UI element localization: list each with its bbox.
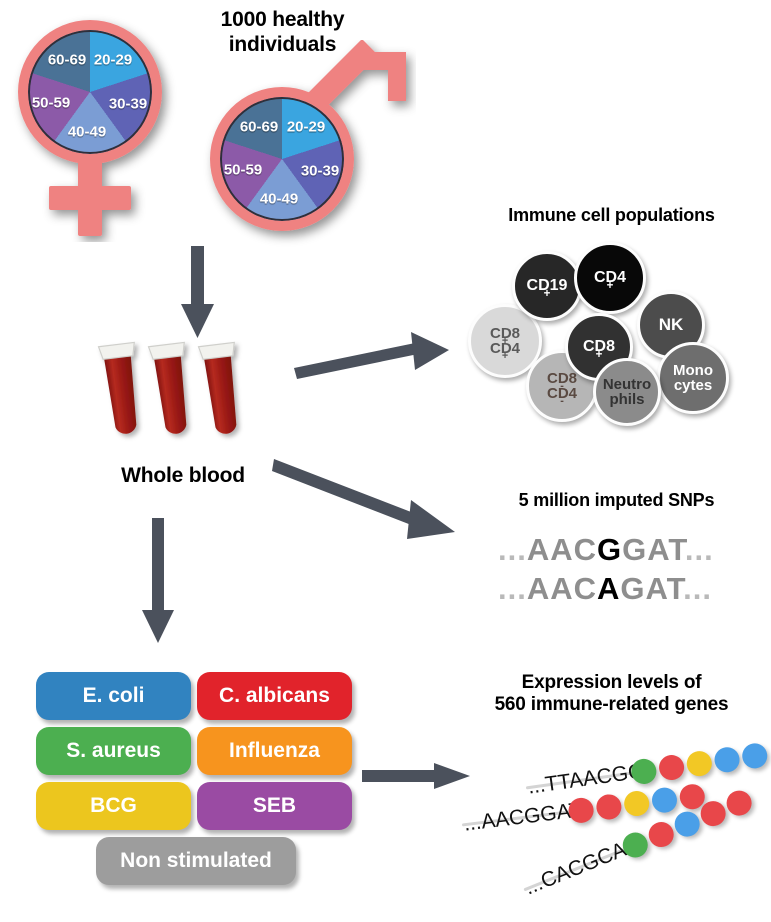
snp-title: 5 million imputed SNPs	[462, 490, 771, 511]
expression-title: Expression levels of 560 immune-related …	[452, 672, 771, 717]
expression-section: Expression levels of 560 immune-related …	[452, 672, 771, 920]
cell-monocytes: Mono cytes	[657, 342, 729, 414]
snp-section: 5 million imputed SNPs ...AACGGAT... ...…	[462, 490, 771, 615]
dna-bead	[723, 787, 756, 820]
stimulus-c-albicans[interactable]: C. albicans	[197, 672, 352, 720]
snp-allele-1: ...AACGGAT...	[498, 532, 714, 568]
cell-cd4pos: CD4+	[574, 242, 646, 314]
male-gender-symbol: 20-29 30-39 40-49 50-59 60-69	[196, 40, 416, 250]
male-pie-label-30-39: 30-39	[301, 163, 339, 180]
expression-title-line2: 560 immune-related genes	[452, 694, 771, 716]
female-pie-label-60-69: 60-69	[48, 52, 86, 69]
stimulus-label: S. aureus	[66, 739, 161, 763]
cohort-section: 1000 healthy individuals 20-29 30-39 40-…	[0, 0, 430, 260]
stimulus-bcg[interactable]: BCG	[36, 782, 191, 830]
stimulus-seb[interactable]: SEB	[197, 782, 352, 830]
dna-bead	[657, 753, 685, 781]
cell-label-line2: CD4+	[490, 341, 520, 356]
stimulus-label: Non stimulated	[120, 849, 272, 873]
cell-label-line1: Neutro	[603, 377, 651, 392]
dna-bead	[651, 786, 679, 814]
snp-allele2-suffix-dots: ...	[683, 571, 712, 606]
blood-tube	[149, 342, 196, 435]
cell-label: CD8+	[583, 339, 615, 355]
stimulus-non-stimulated[interactable]: Non stimulated	[96, 837, 296, 885]
female-pie-label-50-59: 50-59	[32, 95, 70, 112]
snp-allele2-variant: A	[597, 571, 620, 606]
cell-label-line1: CD8+	[490, 326, 520, 341]
cell-label-line2: phils	[609, 392, 644, 407]
snp-allele1-prefix-dots: ...	[498, 532, 527, 567]
dna-bead	[741, 742, 769, 770]
cohort-title-line1: 1000 healthy	[170, 8, 395, 33]
male-pie-label-20-29: 20-29	[287, 119, 325, 136]
female-gender-symbol: 20-29 30-39 40-49 50-59 60-69	[8, 12, 188, 242]
snp-allele-2: ...AACAGAT...	[498, 571, 712, 607]
stimulus-s-aureus[interactable]: S. aureus	[36, 727, 191, 775]
female-pie-label-40-49: 40-49	[68, 124, 106, 141]
stimulus-e-coli[interactable]: E. coli	[36, 672, 191, 720]
stimulus-influenza[interactable]: Influenza	[197, 727, 352, 775]
snp-allele1-suffix-dots: ...	[685, 532, 714, 567]
arrow-blood-to-immune-cells	[292, 326, 452, 378]
cell-label-line2: cytes	[674, 378, 712, 393]
dna-bead	[623, 790, 651, 818]
dna-bead	[685, 750, 713, 778]
dna-bead	[713, 746, 741, 774]
male-pie-label-40-49: 40-49	[260, 191, 298, 208]
dna-bead	[595, 793, 623, 821]
arrow-cohort-to-blood	[178, 246, 218, 342]
snp-allele2-prefix-dots: ...	[498, 571, 527, 606]
cell-label: CD19+	[527, 278, 568, 294]
cell-cd19pos: CD19+	[512, 251, 582, 321]
blood-tube	[99, 342, 146, 435]
snp-allele1-variant: G	[597, 532, 622, 567]
cell-label: CD4+	[594, 270, 626, 286]
stimulus-label: SEB	[253, 794, 296, 818]
blood-tubes	[94, 330, 294, 460]
snp-allele1-prefix: AAC	[527, 532, 597, 567]
dna-sequence: ...AACGGAT	[463, 798, 584, 836]
cell-label-line1: Mono	[673, 363, 713, 378]
snp-allele2-prefix: AAC	[527, 571, 597, 606]
expression-title-line1: Expression levels of	[452, 672, 771, 694]
female-pie-label-30-39: 30-39	[109, 96, 147, 113]
male-pie-label-50-59: 50-59	[224, 162, 262, 179]
snp-allele2-suffix: GAT	[620, 571, 683, 606]
stimulus-label: BCG	[90, 794, 137, 818]
female-pie-label-20-29: 20-29	[94, 52, 132, 69]
immune-cell-title: Immune cell populations	[452, 205, 771, 226]
male-pie-label-60-69: 60-69	[240, 119, 278, 136]
stimuli-section: E. coli C. albicans S. aureus Influenza …	[30, 672, 350, 897]
dna-bead	[671, 808, 704, 841]
dna-bead	[645, 818, 678, 851]
stimulus-label: C. albicans	[219, 684, 330, 708]
cell-label-line2: CD4-	[547, 386, 577, 401]
snp-allele1-suffix: GAT	[622, 532, 685, 567]
cell-neutrophils: Neutro phils	[593, 358, 661, 426]
cell-label-line1: CD8-	[547, 371, 577, 386]
arrow-blood-to-stimuli	[137, 518, 181, 646]
stimulus-label: Influenza	[229, 739, 320, 763]
cell-label: NK	[659, 316, 684, 333]
whole-blood-label: Whole blood	[88, 464, 278, 489]
stimulus-label: E. coli	[83, 684, 145, 708]
arrow-blood-to-snps	[272, 447, 462, 542]
immune-cell-section: Immune cell populations CD8+ CD4+ CD19+ …	[452, 205, 771, 425]
blood-tube	[199, 342, 246, 435]
